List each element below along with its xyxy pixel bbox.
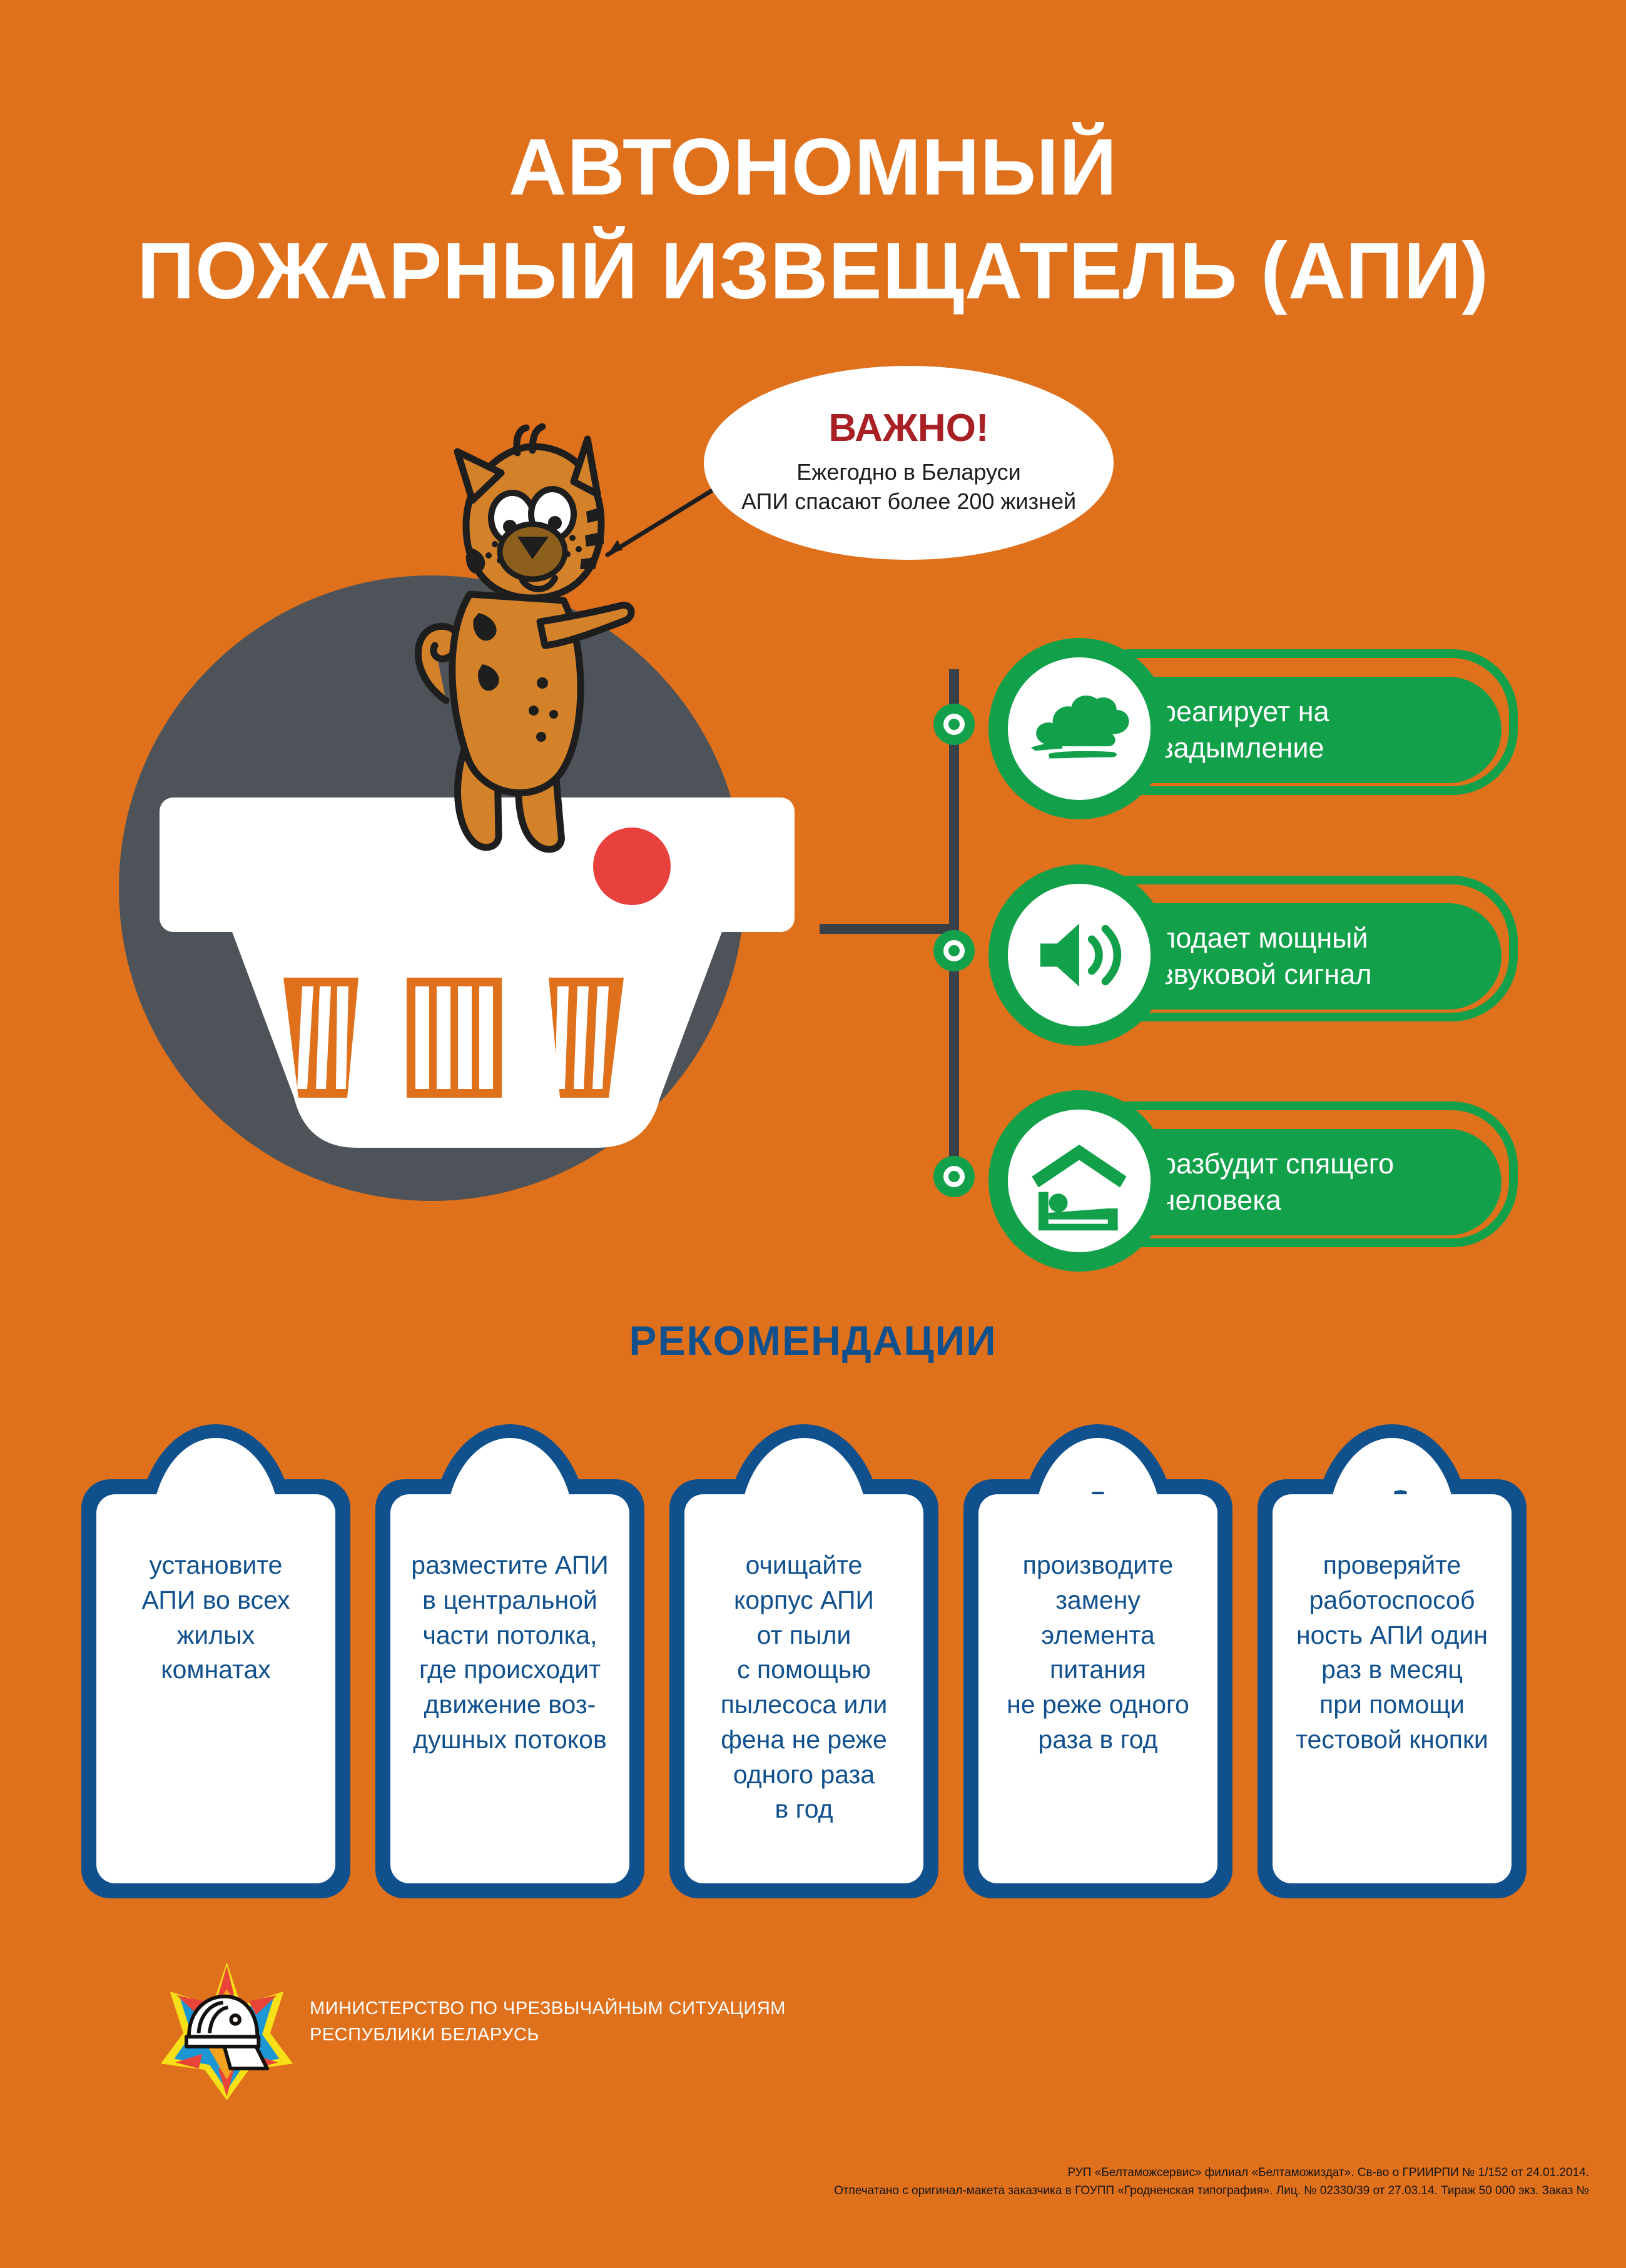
feature-line-1: разбудит спящего — [1161, 1146, 1394, 1183]
recommendation-card-clean[interactable]: очищайте корпус АПИ от пыли с помощью пы… — [669, 1479, 938, 1898]
important-callout-bubble: ВАЖНО! Ежегодно в Беларуси АПИ спасают б… — [704, 366, 1114, 560]
feature-badge — [988, 638, 1170, 819]
imprint-line-2: Отпечатано с оригинал-макета заказчика в… — [738, 2182, 1589, 2200]
feature-badge — [988, 864, 1170, 1046]
recommendation-cards: установите АПИ во всех жилых комнатах — [81, 1423, 1552, 1898]
callout-heading: ВАЖНО! — [828, 409, 988, 448]
feature-line-2: звуковой сигнал — [1161, 956, 1372, 993]
smoke-cloud-icon — [1024, 674, 1134, 784]
connector-node-1 — [933, 704, 975, 745]
card-text: разместите АПИ в центральной части потол… — [390, 1548, 629, 1758]
feature-pill-sound[interactable]: подает мощный звуковой сигнал — [988, 889, 1502, 1021]
connector-node-2 — [933, 930, 975, 971]
mchs-emblem-icon — [160, 1961, 294, 2102]
connector-node-3 — [933, 1156, 975, 1197]
callout-line-2: АПИ спасают более 200 жизней — [741, 487, 1076, 517]
recommendation-card-test[interactable]: проверяйте работоспособ ность АПИ один р… — [1258, 1479, 1527, 1898]
card-text: проверяйте работоспособ ность АПИ один р… — [1273, 1548, 1512, 1758]
feature-badge — [988, 1090, 1170, 1272]
recommendation-card-install[interactable]: установите АПИ во всех жилых комнатах — [81, 1479, 350, 1898]
poster-root: АВТОНОМНЫЙ ПОЖАРНЫЙ ИЗВЕЩАТЕЛЬ (АПИ) — [0, 0, 1626, 2268]
title-line-1: АВТОНОМНЫЙ — [0, 116, 1626, 220]
feature-line-2: человека — [1161, 1182, 1394, 1219]
card-text: производите замену элемента питания не р… — [978, 1548, 1217, 1758]
connector-lines — [795, 657, 1020, 1201]
detector-vent-center — [407, 978, 502, 1098]
recommendations-heading: РЕКОМЕНДАЦИИ — [0, 1317, 1626, 1364]
title-line-2: ПОЖАРНЫЙ ИЗВЕЩАТЕЛЬ (АПИ) — [0, 220, 1626, 323]
bed-under-roof-icon — [1024, 1126, 1134, 1236]
ministry-line-2: РЕСПУБЛИКИ БЕЛАРУСЬ — [310, 2022, 786, 2048]
loud-speaker-icon — [1027, 903, 1132, 1008]
imprint-line-1: РУП «Белтаможсервис» филиал «Белтаможизд… — [738, 2164, 1589, 2182]
callout-line-1: Ежегодно в Беларуси — [741, 458, 1076, 487]
page-title: АВТОНОМНЫЙ ПОЖАРНЫЙ ИЗВЕЩАТЕЛЬ (АПИ) — [0, 116, 1626, 324]
card-text: очищайте корпус АПИ от пыли с помощью пы… — [684, 1548, 923, 1827]
print-imprint: РУП «Белтаможсервис» филиал «Белтаможизд… — [738, 2164, 1589, 2200]
feature-line-1: подает мощный — [1161, 920, 1372, 957]
card-text: установите АПИ во всех жилых комнатах — [96, 1548, 335, 1688]
ministry-name: МИНИСТЕРСТВО ПО ЧРЕЗВЫЧАЙНЫМ СИТУАЦИЯМ Р… — [310, 1995, 786, 2048]
feature-line-2: задымление — [1161, 730, 1329, 767]
ministry-line-1: МИНИСТЕРСТВО ПО ЧРЕЗВЫЧАЙНЫМ СИТУАЦИЯМ — [310, 1995, 786, 2022]
feature-pill-smoke[interactable]: реагирует на задымление — [988, 663, 1502, 794]
feature-line-1: реагирует на — [1161, 694, 1329, 731]
recommendation-card-placement[interactable]: разместите АПИ в центральной части потол… — [375, 1479, 644, 1898]
feature-pill-wake[interactable]: разбудит спящего человека — [988, 1115, 1502, 1247]
recommendation-card-battery[interactable]: производите замену элемента питания не р… — [963, 1479, 1232, 1898]
callout-body: Ежегодно в Беларуси АПИ спасают более 20… — [741, 458, 1076, 517]
